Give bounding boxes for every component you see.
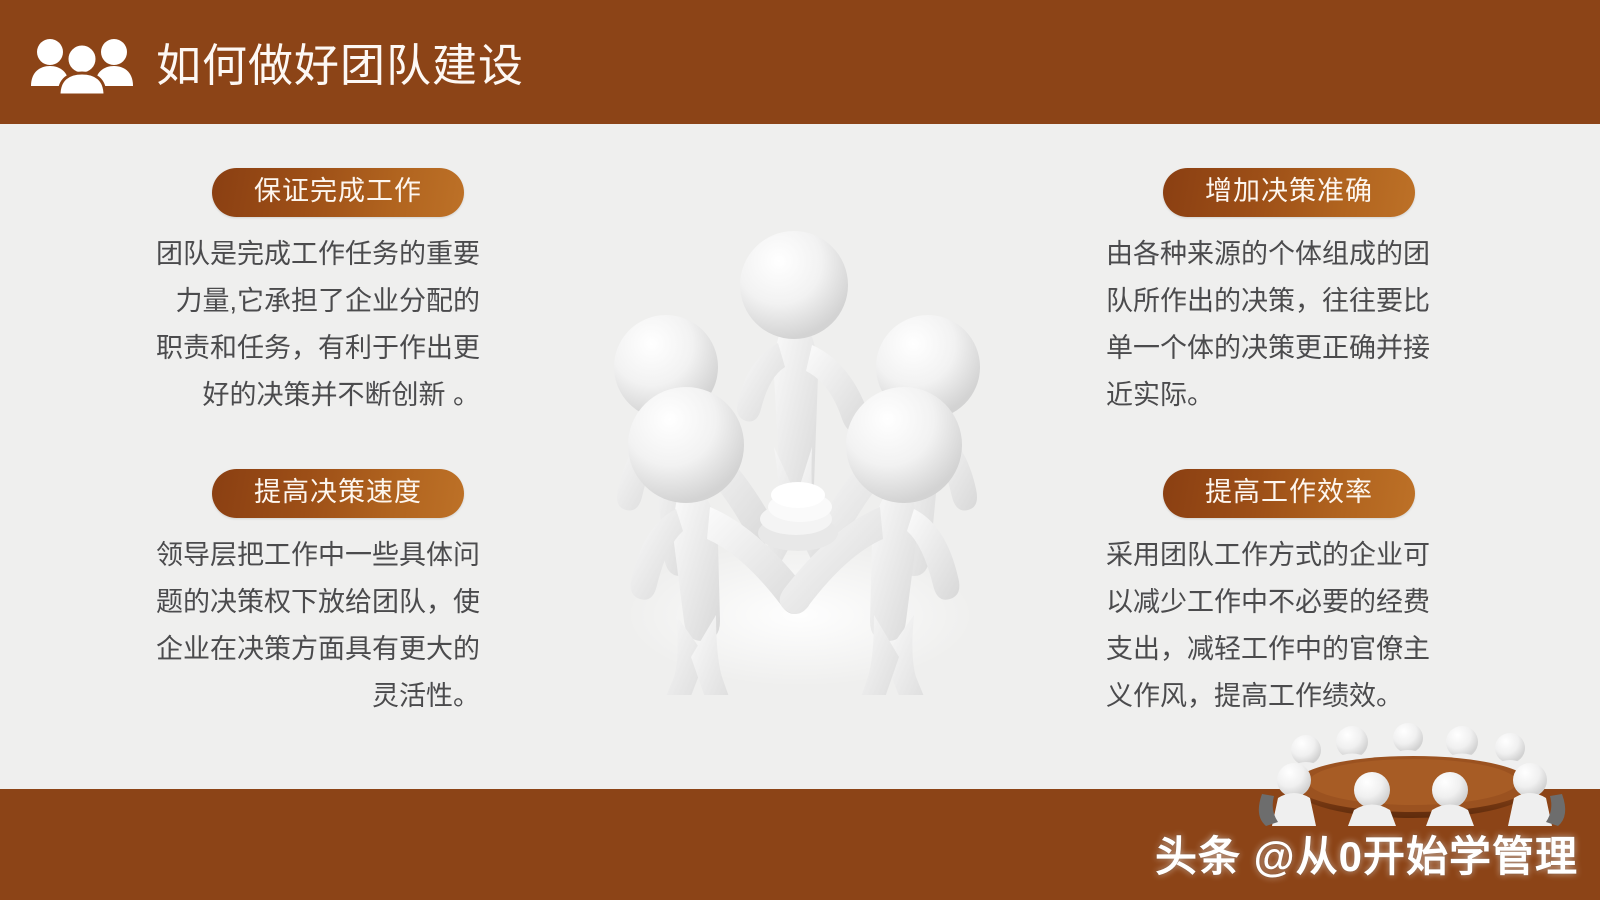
left-block-2: 提高决策速度 领导层把工作中一些具体问题的决策权下放给团队，使企业在决策方面具有… — [150, 469, 480, 720]
right-block-1: 增加决策准确 由各种来源的个体组成的团队所作出的决策，往往要比单一个体的决策更正… — [1106, 168, 1436, 419]
slide-root: 如何做好团队建设 保证完成工作 团队是完成工作任务的重要力量,它承担了企业分配的… — [0, 0, 1600, 900]
badge-wrap: 保证完成工作 — [150, 168, 480, 217]
badge-wrap: 增加决策准确 — [1106, 168, 1436, 217]
page-title: 如何做好团队建设 — [156, 43, 524, 88]
left-column: 保证完成工作 团队是完成工作任务的重要力量,它承担了企业分配的职责和任务，有利于… — [150, 168, 480, 720]
right-column: 增加决策准确 由各种来源的个体组成的团队所作出的决策，往往要比单一个体的决策更正… — [1106, 168, 1436, 720]
watermark-text: 头条 @从0开始学管理 — [1155, 823, 1578, 884]
badge-work-efficiency[interactable]: 提高工作效率 — [1163, 469, 1415, 518]
group-people-icon — [28, 34, 136, 96]
badge-wrap: 提高决策速度 — [150, 469, 480, 518]
badge-decision-accuracy[interactable]: 增加决策准确 — [1163, 168, 1415, 217]
header-inner: 如何做好团队建设 — [28, 0, 524, 124]
badge-decision-speed[interactable]: 提高决策速度 — [212, 469, 464, 518]
badge-guarantee-work[interactable]: 保证完成工作 — [212, 168, 464, 217]
badge-wrap: 提高工作效率 — [1106, 469, 1436, 518]
teamwork-hands-together-illustration — [560, 195, 1030, 695]
right-block-1-text: 由各种来源的个体组成的团队所作出的决策，往往要比单一个体的决策更正确并接近实际。 — [1106, 231, 1436, 419]
left-block-1-text: 团队是完成工作任务的重要力量,它承担了企业分配的职责和任务，有利于作出更好的决策… — [150, 231, 480, 419]
left-block-2-text: 领导层把工作中一些具体问题的决策权下放给团队，使企业在决策方面具有更大的灵活性。 — [150, 532, 480, 720]
left-block-1: 保证完成工作 团队是完成工作任务的重要力量,它承担了企业分配的职责和任务，有利于… — [150, 168, 480, 419]
right-block-2-text: 采用团队工作方式的企业可以减少工作中不必要的经费支出，减轻工作中的官僚主义作风，… — [1106, 532, 1436, 720]
round-table-meeting-illustration — [1248, 706, 1578, 826]
right-block-2: 提高工作效率 采用团队工作方式的企业可以减少工作中不必要的经费支出，减轻工作中的… — [1106, 469, 1436, 720]
header-bar: 如何做好团队建设 — [0, 0, 1600, 124]
